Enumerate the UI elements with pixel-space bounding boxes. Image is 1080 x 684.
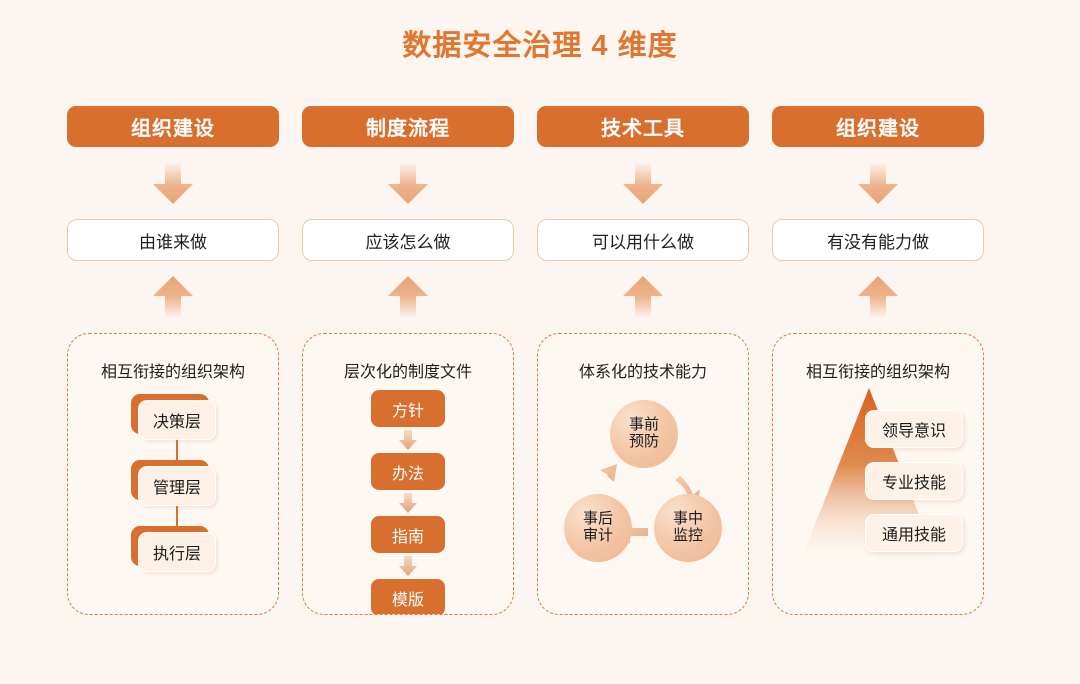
question-box-1: 由谁来做 — [67, 219, 279, 261]
list-item[interactable]: 办法 — [371, 453, 445, 490]
list-item[interactable]: 方针 — [371, 390, 445, 427]
circle-line-2: 监控 — [673, 528, 703, 545]
arrow-up-icon — [855, 274, 901, 320]
dimension-column-1: 组织建设 由谁来做 — [67, 106, 279, 615]
circle-line-2: 审计 — [583, 528, 613, 545]
stack-connector — [176, 506, 178, 526]
arrow-down-icon — [398, 555, 418, 577]
stack-connector — [176, 440, 178, 460]
panel-2: 层次化的制度文件 方针 办法 指南 — [302, 333, 514, 615]
question-box-3: 可以用什么做 — [537, 219, 749, 261]
capability-cycle: 事前 预防 事中 监控 事后 审计 — [538, 382, 749, 614]
arrow-up-3-wrap — [620, 261, 666, 333]
stack-label: 决策层 — [138, 400, 216, 440]
arrow-down-icon — [855, 160, 901, 206]
list-item[interactable]: 执行层 — [131, 526, 215, 572]
stack-label: 管理层 — [138, 466, 216, 506]
arrow-down-icon — [385, 160, 431, 206]
arrow-up-4-wrap — [855, 261, 901, 333]
panel-4: 相互衔接的组织架构 领导意识 专业技能 通用技能 — [772, 333, 984, 615]
arrow-down-4-wrap — [855, 147, 901, 219]
panel-title-3: 体系化的技术能力 — [538, 358, 748, 382]
list-item[interactable]: 决策层 — [131, 394, 215, 440]
org-stack: 决策层 管理层 执行层 — [68, 394, 278, 572]
question-box-4: 有没有能力做 — [772, 219, 984, 261]
arrow-down-1-wrap — [150, 147, 196, 219]
arrow-up-icon — [620, 274, 666, 320]
column-header-3[interactable]: 技术工具 — [537, 106, 749, 147]
column-header-1[interactable]: 组织建设 — [67, 106, 279, 147]
panel-title-1: 相互衔接的组织架构 — [68, 358, 278, 382]
list-item[interactable]: 事中 监控 — [654, 494, 722, 562]
circle-line-1: 事后 — [583, 511, 613, 528]
panel-title-4: 相互衔接的组织架构 — [773, 358, 983, 382]
arrow-down-icon — [398, 492, 418, 514]
circle-line-2: 预防 — [629, 434, 659, 451]
list-item[interactable]: 通用技能 — [865, 514, 963, 552]
circle-line-1: 事中 — [673, 511, 703, 528]
dimension-column-4: 组织建设 有没有能力做 相互衔接的组织架构 — [772, 106, 984, 615]
stack-label: 执行层 — [138, 532, 216, 572]
dimension-columns: 组织建设 由谁来做 — [67, 106, 1013, 615]
arrow-up-icon — [150, 274, 196, 320]
list-item[interactable]: 事后 审计 — [564, 494, 632, 562]
arrow-up-1-wrap — [150, 261, 196, 333]
arrow-up-icon — [385, 274, 431, 320]
list-item[interactable]: 领导意识 — [865, 410, 963, 448]
column-header-2[interactable]: 制度流程 — [302, 106, 514, 147]
arrow-up-2-wrap — [385, 261, 431, 333]
list-item[interactable]: 事前 预防 — [610, 400, 678, 468]
arrow-down-icon — [620, 160, 666, 206]
page-title: 数据安全治理 4 维度 — [0, 22, 1080, 64]
list-item[interactable]: 管理层 — [131, 460, 215, 506]
list-item[interactable]: 专业技能 — [865, 462, 963, 500]
list-item[interactable]: 指南 — [371, 516, 445, 553]
column-header-4[interactable]: 组织建设 — [772, 106, 984, 147]
arrow-down-icon — [398, 429, 418, 451]
doc-flow: 方针 办法 指南 模版 — [303, 390, 513, 615]
question-box-2: 应该怎么做 — [302, 219, 514, 261]
panel-title-2: 层次化的制度文件 — [303, 358, 513, 382]
panel-3: 体系化的技术能力 事前 — [537, 333, 749, 615]
dimension-column-3: 技术工具 可以用什么做 体系化的技术能力 — [537, 106, 749, 615]
arrow-down-2-wrap — [385, 147, 431, 219]
list-item[interactable]: 模版 — [371, 579, 445, 615]
arrow-down-3-wrap — [620, 147, 666, 219]
skill-pyramid: 领导意识 专业技能 通用技能 — [773, 386, 984, 615]
dimension-column-2: 制度流程 应该怎么做 层次化的制度文件 方针 — [302, 106, 514, 615]
arrow-down-icon — [150, 160, 196, 206]
panel-1: 相互衔接的组织架构 决策层 管理层 执行层 — [67, 333, 279, 615]
circle-line-1: 事前 — [629, 417, 659, 434]
